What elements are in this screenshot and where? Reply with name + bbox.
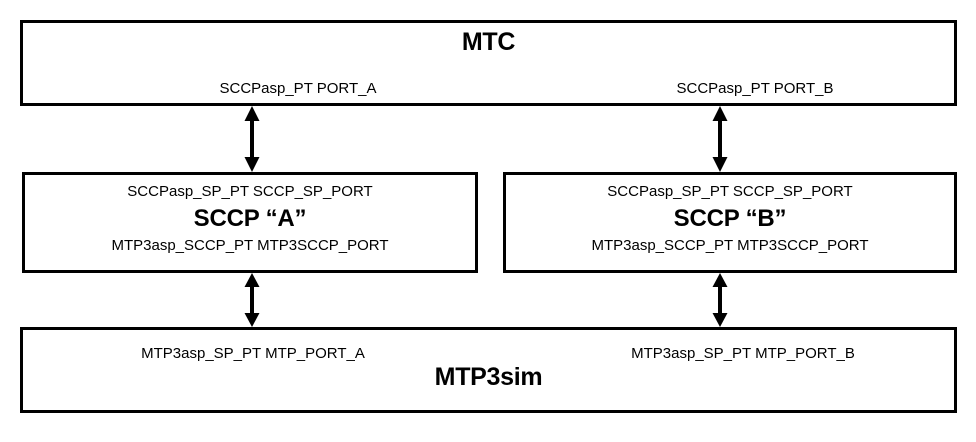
double-arrow-icon [709,273,731,327]
sccp-a-top-ports-label: SCCPasp_SP_PT SCCP_SP_PORT [25,183,475,200]
connector-mtc-to-sccp-b [709,106,731,172]
sccp-b-title: SCCP “B” [506,205,954,233]
mtp3sim-port-a-label: MTP3asp_SP_PT MTP_PORT_A [83,345,423,362]
mtc-title: MTC [23,28,954,57]
component-box-sccp-a: SCCPasp_SP_PT SCCP_SP_PORT SCCP “A” MTP3… [22,172,478,273]
sccp-a-title: SCCP “A” [25,205,475,233]
connector-sccp-b-to-mtp3sim [709,273,731,327]
sccp-a-bottom-ports-label: MTP3asp_SCCP_PT MTP3SCCP_PORT [25,237,475,254]
diagram-canvas: MTC SCCPasp_PT PORT_A SCCPasp_PT PORT_B … [0,0,976,442]
component-box-mtp3sim: MTP3asp_SP_PT MTP_PORT_A MTP3asp_SP_PT M… [20,327,957,413]
mtp3sim-title: MTP3sim [23,363,954,392]
double-arrow-icon [709,106,731,172]
connector-mtc-to-sccp-a [241,106,263,172]
double-arrow-icon [241,273,263,327]
component-box-sccp-b: SCCPasp_SP_PT SCCP_SP_PORT SCCP “B” MTP3… [503,172,957,273]
mtc-port-b-label: SCCPasp_PT PORT_B [615,80,895,97]
mtp3sim-port-b-label: MTP3asp_SP_PT MTP_PORT_B [573,345,913,362]
double-arrow-icon [241,106,263,172]
component-box-mtc: MTC SCCPasp_PT PORT_A SCCPasp_PT PORT_B [20,20,957,106]
connector-sccp-a-to-mtp3sim [241,273,263,327]
sccp-b-bottom-ports-label: MTP3asp_SCCP_PT MTP3SCCP_PORT [506,237,954,254]
mtc-port-a-label: SCCPasp_PT PORT_A [158,80,438,97]
sccp-b-top-ports-label: SCCPasp_SP_PT SCCP_SP_PORT [506,183,954,200]
